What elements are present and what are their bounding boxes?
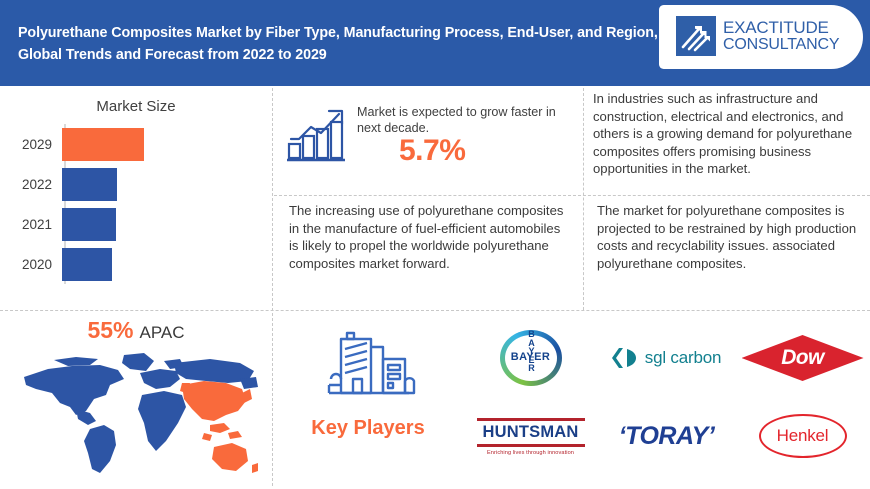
huntsman-rule-bottom [477,444,585,447]
key-players-logo-grid: BAYER BAYER sgl carbon Dow [463,311,870,489]
region-percent: 55% [87,317,133,343]
growth-description: Market is expected to grow faster in nex… [357,104,573,136]
divider-horizontal-mid [274,195,870,196]
sgl-bracket-icon [612,347,638,369]
arrows-up-right-icon [676,16,716,56]
opportunity-text: In industries such as infrastructure and… [593,90,861,178]
sgl-carbon-text: sgl carbon [645,348,721,368]
logo-huntsman: HUNTSMAN Enriching lives through innovat… [463,397,598,475]
logo-toray: ‘TORAY’ [599,397,734,475]
chart-row: 2022 [20,166,117,202]
page-title: Polyurethane Composites Market by Fiber … [18,22,658,66]
dow-text: Dow [742,346,864,370]
logo-text-line1: EXACTITUDE [723,19,839,36]
chart-row: 2029 [20,126,144,162]
chart-row: 2021 [20,206,116,242]
toray-text: ‘TORAY’ [619,422,715,451]
growth-chart-icon [285,102,351,164]
region-share-label: 55%APAC [0,317,272,344]
infographic-page: Polyurethane Composites Market by Fiber … [0,0,870,489]
market-size-chart: Market Size 2029 2022 2021 2020 [0,86,272,310]
bayer-horizontal-text: BAYER [505,352,557,363]
region-share-panel: 55%APAC [0,311,272,489]
chart-plot-area: 2029 2022 2021 2020 [20,124,252,294]
office-building-icon [321,329,417,403]
brand-logo-card: EXACTITUDE CONSULTANCY [660,6,862,68]
growth-percent: 5.7% [399,134,465,168]
chart-category-label: 2029 [20,137,60,152]
huntsman-rule-top [477,418,585,421]
chart-category-label: 2021 [20,217,60,232]
divider-vertical-right [583,88,584,310]
chart-bar [62,168,117,201]
world-map-icon [14,349,262,481]
chart-bar [62,128,144,161]
header-banner: Polyurethane Composites Market by Fiber … [0,0,870,86]
huntsman-text: HUNTSMAN [477,423,585,442]
logo-sgl-carbon: sgl carbon [599,319,734,397]
chart-bar [62,248,112,281]
chart-category-label: 2022 [20,177,60,192]
key-players-panel: Key Players [273,311,463,489]
logo-bayer: BAYER BAYER [463,319,598,397]
chart-bar [62,208,116,241]
henkel-text: Henkel [759,414,847,458]
chart-row: 2020 [20,246,112,282]
driver-text: The increasing use of polyurethane compo… [289,202,573,272]
growth-rate-panel: Market is expected to grow faster in nex… [273,86,583,194]
logo-dow: Dow [735,319,870,397]
key-players-label: Key Players [273,417,463,440]
restraint-text: The market for polyurethane composites i… [597,202,861,272]
chart-category-label: 2020 [20,257,60,272]
logo-henkel: Henkel [735,397,870,475]
region-name: APAC [140,323,185,342]
huntsman-tagline: Enriching lives through innovation [477,450,585,456]
chart-title: Market Size [0,98,272,115]
logo-text-line2: CONSULTANCY [723,37,839,53]
